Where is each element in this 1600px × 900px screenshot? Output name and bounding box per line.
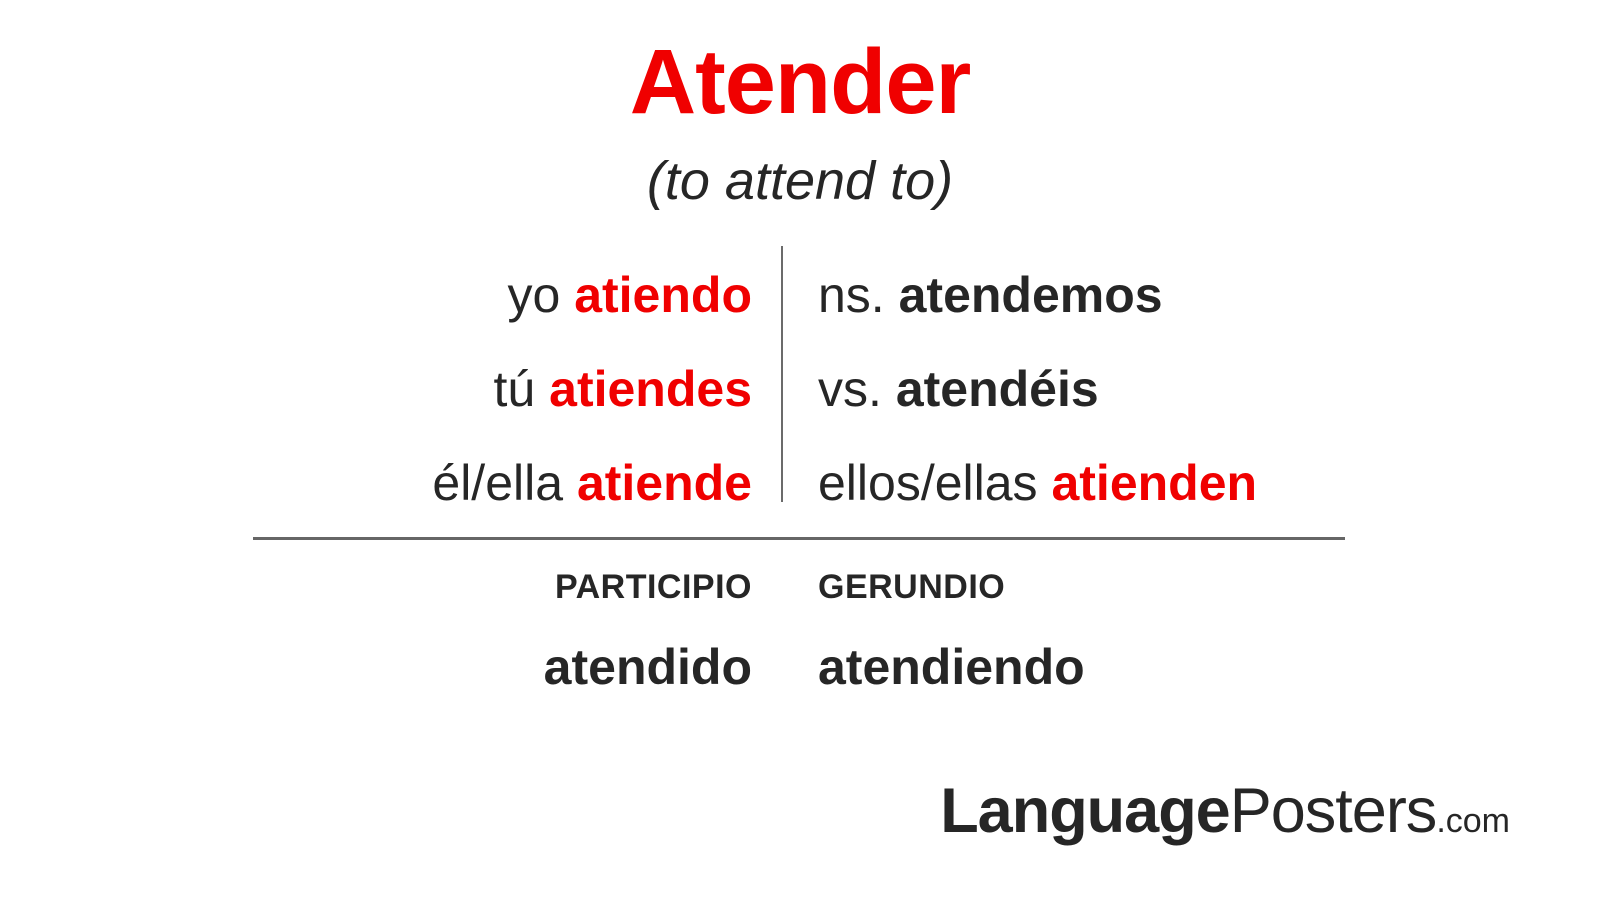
logo-language-text: Language <box>940 776 1230 846</box>
pronoun-label: ns. <box>818 267 885 323</box>
verb-form: atendemos <box>899 267 1163 323</box>
pronoun-label: tú <box>494 361 536 417</box>
column-divider <box>781 246 783 502</box>
nonfinite-forms-section: PARTICIPIO atendido GERUNDIO atendiendo <box>0 570 1600 720</box>
pronoun-label: yo <box>507 267 560 323</box>
verb-form: atienden <box>1051 455 1257 511</box>
gerundio-block: GERUNDIO atendiendo <box>818 570 1518 692</box>
conjugation-row: ellos/ellas atienden <box>818 436 1518 530</box>
conjugation-column-plural: ns. atendemos vs. atendéis ellos/ellas a… <box>818 248 1518 508</box>
conjugation-row: yo atiendo <box>180 248 752 342</box>
verb-form: atiendes <box>549 361 752 417</box>
verb-form: atiende <box>577 455 752 511</box>
participio-value: atendido <box>180 642 752 692</box>
participio-block: PARTICIPIO atendido <box>180 570 752 692</box>
page-title: Atender <box>0 34 1600 131</box>
conjugation-row: tú atiendes <box>180 342 752 436</box>
pronoun-label: él/ella <box>432 455 563 511</box>
gerundio-value: atendiendo <box>818 642 1518 692</box>
logo-tld-text: .com <box>1436 802 1510 840</box>
conjugation-row: él/ella atiende <box>180 436 752 530</box>
verb-translation-subtitle: (to attend to) <box>0 152 1600 211</box>
logo-posters-text: Posters <box>1230 776 1437 846</box>
participio-label: PARTICIPIO <box>180 570 752 604</box>
verb-form: atendéis <box>896 361 1099 417</box>
conjugation-column-singular: yo atiendo tú atiendes él/ella atiende <box>180 248 752 508</box>
brand-logo[interactable]: LanguagePosters.com <box>0 780 1510 843</box>
conjugation-table: yo atiendo tú atiendes él/ella atiende n… <box>0 248 1600 508</box>
pronoun-label: ellos/ellas <box>818 455 1038 511</box>
conjugation-row: ns. atendemos <box>818 248 1518 342</box>
conjugation-row: vs. atendéis <box>818 342 1518 436</box>
verb-form: atiendo <box>574 267 752 323</box>
section-divider <box>253 537 1345 540</box>
verb-conjugation-poster: Atender (to attend to) yo atiendo tú ati… <box>0 0 1600 900</box>
pronoun-label: vs. <box>818 361 882 417</box>
gerundio-label: GERUNDIO <box>818 570 1518 604</box>
